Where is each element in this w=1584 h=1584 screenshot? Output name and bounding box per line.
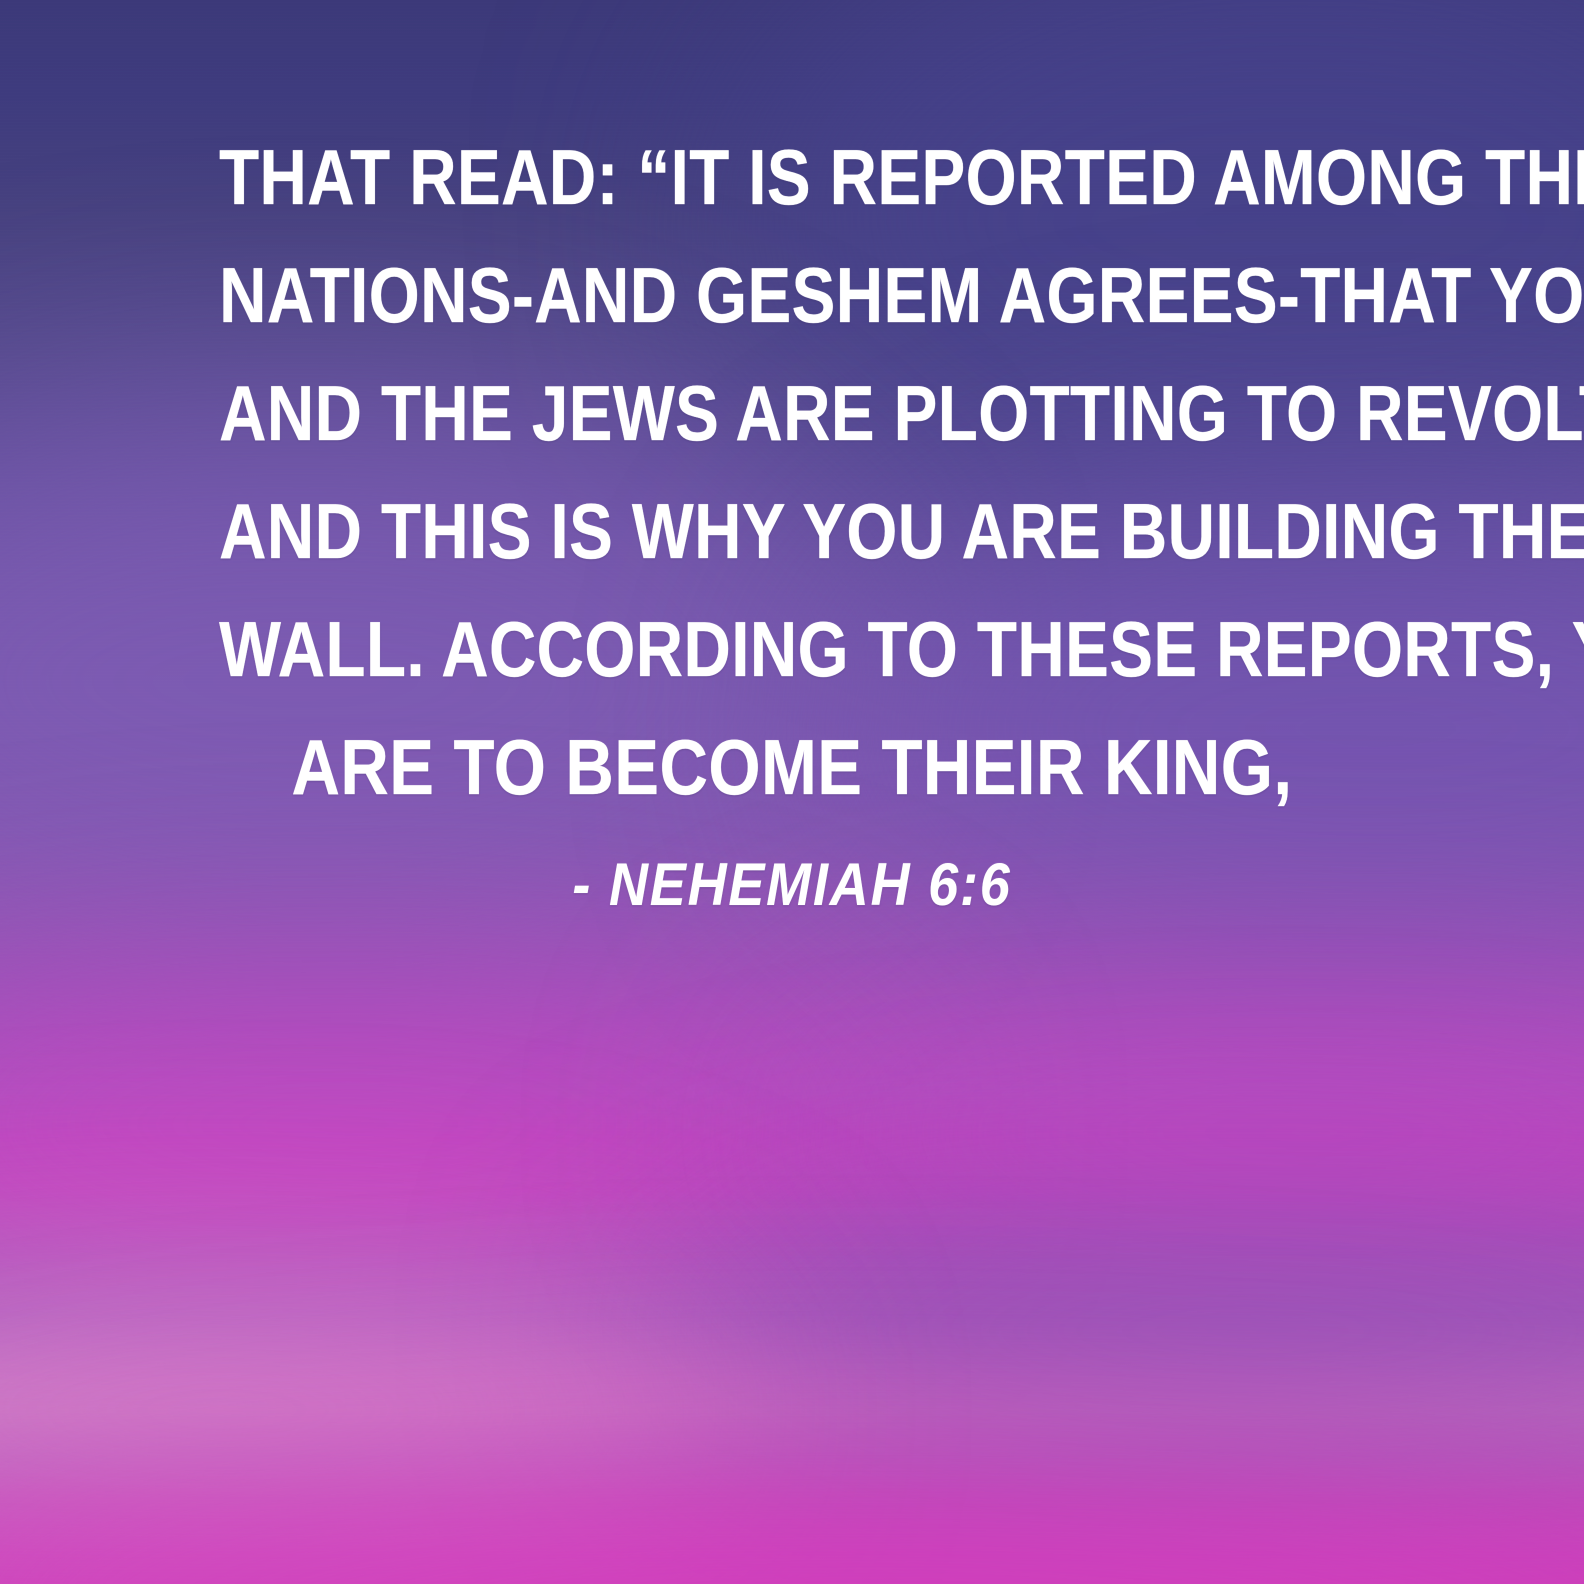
verse-line: wall. According to these reports, you bbox=[219, 590, 1365, 708]
verse-line: and this is why you are building the bbox=[219, 472, 1365, 590]
verse-line: are to become their king, bbox=[205, 708, 1378, 826]
verse-line: nations-and Geshem agrees-that you bbox=[219, 236, 1365, 354]
verse-line: and the Jews are plotting to revolt, bbox=[219, 354, 1365, 472]
verse-attribution: - Nehemiah 6:6 bbox=[79, 848, 1505, 922]
verse-line: that read: “It is reported among the bbox=[219, 118, 1365, 236]
verse-text-block: that read: “It is reported among the nat… bbox=[0, 118, 1584, 826]
verse-image-canvas: that read: “It is reported among the nat… bbox=[0, 0, 1584, 1584]
